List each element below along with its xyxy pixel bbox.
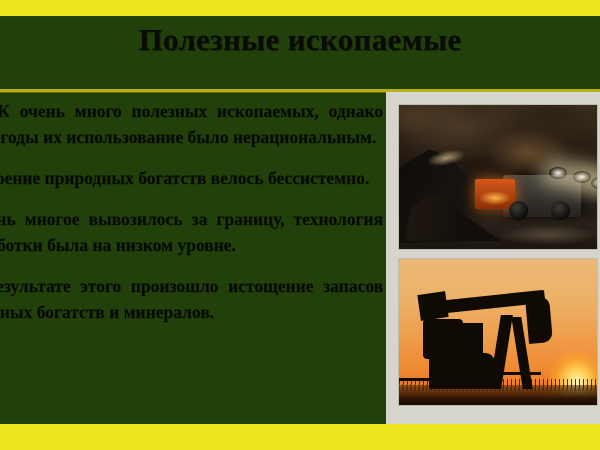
pumpjack-base-icon — [429, 353, 495, 389]
mine-ore-pile-secondary — [405, 179, 501, 241]
pumpjack-ladder-icon — [399, 259, 421, 329]
pumpjack-counterweight-icon — [423, 319, 463, 359]
pumpjack-counterweight-secondary-icon — [459, 323, 483, 357]
mine-headlight-tertiary-icon — [591, 177, 597, 189]
mine-ore-pile — [399, 139, 519, 243]
grass-silhouette — [399, 379, 597, 391]
mine-floor — [399, 205, 597, 249]
pumpjack-samson-post-icon — [489, 315, 513, 389]
photo-oil-pumpjack — [398, 258, 598, 406]
presentation-slide: Полезные ископаемые В РК очень много пол… — [0, 0, 600, 450]
mine-loader-wheel-front-icon — [509, 201, 528, 220]
pumpjack-pitman-arm-icon — [417, 291, 448, 321]
photo-panel — [386, 92, 600, 424]
pumpjack-platform-rail — [495, 372, 541, 375]
mine-cavern-background — [399, 105, 597, 249]
body-paragraph-1: В РК очень много полезных ископаемых, од… — [0, 98, 383, 150]
mine-headlight-icon — [549, 167, 567, 179]
bottom-accent-band — [0, 424, 600, 450]
body-paragraph-2: Освоение природных богатств велось бесси… — [0, 165, 383, 191]
top-accent-band — [0, 0, 600, 16]
mine-loader-bucket-icon — [475, 179, 515, 209]
mine-ore-highlight — [426, 147, 466, 169]
mine-headlight-secondary-icon — [573, 171, 591, 183]
photo-underground-mine — [398, 104, 598, 250]
sunset-sky — [399, 259, 597, 405]
pumpjack-samson-post-rear-icon — [511, 317, 532, 389]
pumpjack-horsehead-icon — [525, 296, 553, 344]
body-paragraph-3: Очень многое вывозилось за границу, техн… — [0, 206, 383, 258]
mine-loader-vehicle-icon — [503, 175, 581, 217]
sun-icon — [549, 351, 597, 397]
mine-loader-wheel-rear-icon — [551, 201, 570, 220]
body-paragraph-4: В результате этого произошло истощение з… — [0, 273, 383, 325]
pumpjack-fence-rail — [399, 378, 439, 381]
pumpjack-walking-beam-icon — [425, 290, 546, 315]
body-text-column: В РК очень много полезных ископаемых, од… — [0, 92, 386, 424]
page-title: Полезные ископаемые — [0, 20, 600, 60]
mine-roof-rock-icon — [399, 105, 597, 163]
horizon-ground — [399, 385, 597, 405]
